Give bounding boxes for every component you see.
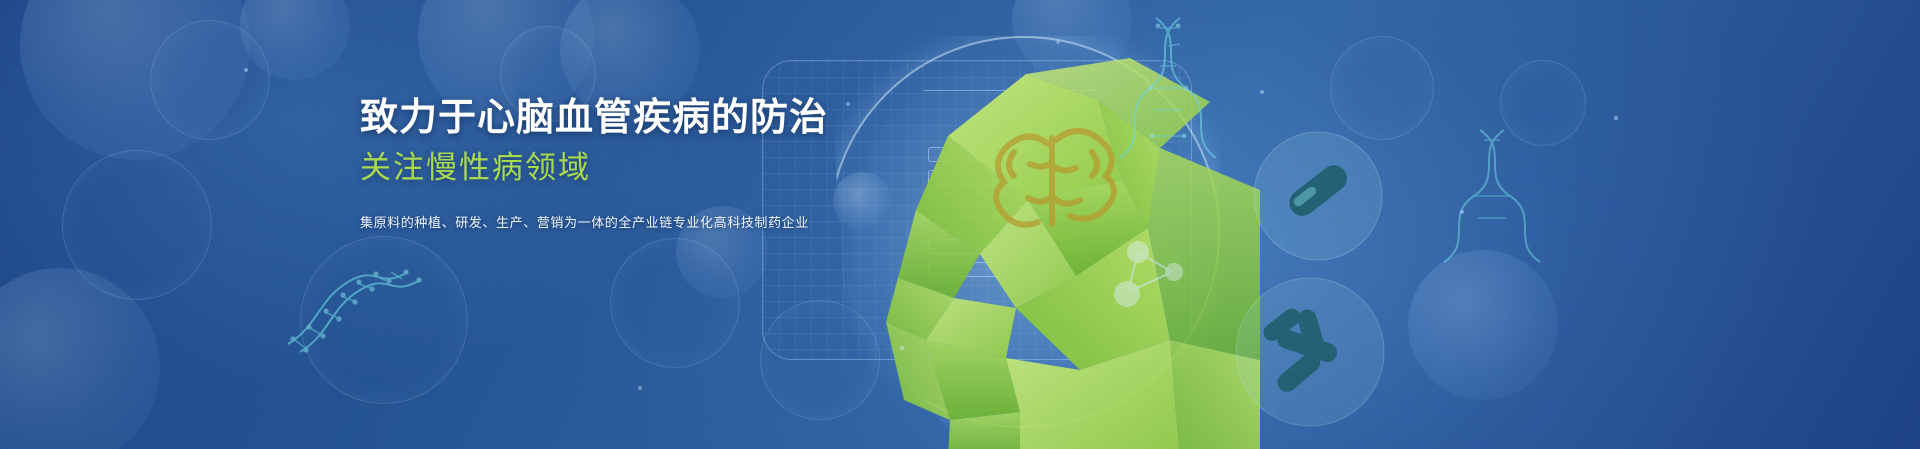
page-tagline: 集原料的种植、研发、生产、营销为一体的全产业链专业化高科技制药企业 — [360, 212, 790, 231]
bokeh-circle — [610, 238, 740, 368]
bokeh-circle — [150, 20, 270, 140]
bokeh-circle — [20, 0, 250, 160]
bokeh-circle — [1330, 36, 1434, 140]
bokeh-circle — [300, 236, 468, 404]
headline-prefix: 致力于 — [360, 97, 477, 139]
bokeh-circle — [0, 268, 160, 449]
bokeh-circle — [1408, 250, 1558, 400]
bokeh-circle — [1500, 60, 1586, 146]
page-title: 致力于心脑血管疾病的防治 — [360, 96, 790, 141]
low-poly-head-icon — [830, 40, 1260, 449]
headline-suffix: 的防治 — [711, 97, 828, 139]
dna-helix-icon — [1444, 130, 1540, 262]
headline-accent: 心脑血管疾病 — [477, 97, 711, 139]
bokeh-circle — [240, 0, 350, 80]
page-subtitle: 关注慢性病领域 — [360, 149, 790, 186]
dna-helix-icon — [288, 269, 422, 352]
banner-copy: 致力于心脑血管疾病的防治 关注慢性病领域 集原料的种植、研发、生产、营销为一体的… — [360, 96, 790, 231]
bokeh-circle — [62, 150, 212, 300]
hero-banner: 致力于心脑血管疾病的防治 关注慢性病领域 集原料的种植、研发、生产、营销为一体的… — [0, 0, 1920, 449]
microbe-rod-icon — [1254, 132, 1382, 260]
